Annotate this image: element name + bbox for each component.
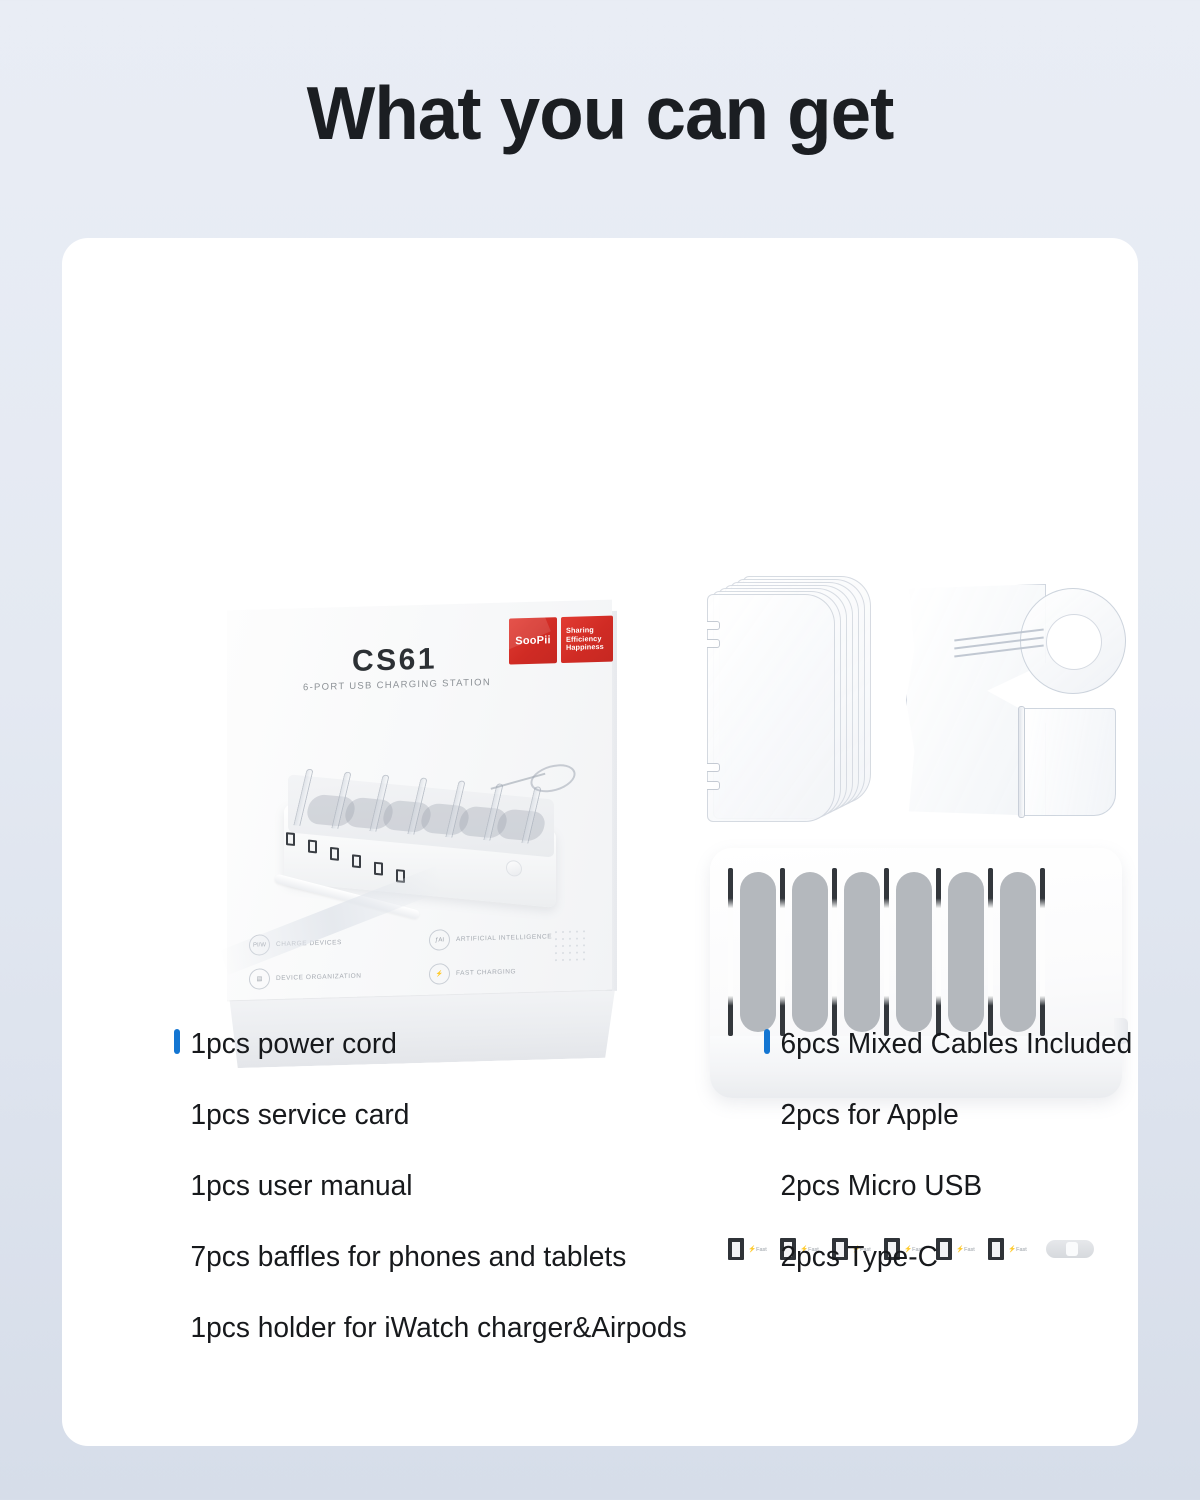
list-item: 2pcs for Apple xyxy=(764,1101,1144,1172)
power-icon: PI/W xyxy=(249,934,270,956)
iwatch-airpods-holder-image xyxy=(898,580,1128,820)
items-right-column: 6pcs Mixed Cables Included 2pcs for Appl… xyxy=(764,1030,1144,1314)
box-feature-item: PI/W CHARGE DEVICES xyxy=(249,930,419,956)
slogan-badge: Sharing Efficiency Happiness xyxy=(561,616,613,663)
list-item: 1pcs holder for iWatch charger&Airpods xyxy=(174,1314,703,1385)
station-divider xyxy=(988,868,993,1036)
baffle-notch xyxy=(707,763,720,772)
box-feature-label: DEVICE ORGANIZATION xyxy=(276,973,361,982)
ai-icon: ƒAI xyxy=(429,929,450,951)
list-item: 1pcs service card xyxy=(174,1101,703,1172)
box-feature-item: ▤ DEVICE ORGANIZATION xyxy=(249,964,419,990)
box-feature-label: FAST CHARGING xyxy=(456,968,516,977)
list-item-label: 1pcs user manual xyxy=(174,1172,413,1201)
slogan-line-3: Happiness xyxy=(566,643,604,653)
list-item-label: 1pcs service card xyxy=(174,1101,409,1130)
baffle-notch xyxy=(707,621,720,630)
airpods-flap xyxy=(1020,708,1116,816)
box-feature-list: PI/W CHARGE DEVICES ƒAI ARTIFICIAL INTEL… xyxy=(249,925,599,1003)
box-art-usb-port xyxy=(286,832,295,846)
station-divider xyxy=(832,868,837,1036)
product-box-image: SooPii Sharing Efficiency Happiness CS61… xyxy=(209,593,629,1088)
box-feature-label: CHARGE DEVICES xyxy=(276,939,342,948)
station-slot-pad xyxy=(740,872,776,1032)
box-art-usb-port xyxy=(352,854,361,868)
box-front-face: SooPii Sharing Efficiency Happiness CS61… xyxy=(227,600,612,1001)
list-item: 2pcs Micro USB xyxy=(764,1172,1144,1243)
list-item-label: 7pcs baffles for phones and tablets xyxy=(174,1243,626,1272)
station-slot-pad xyxy=(1000,872,1036,1032)
iwatch-ring-inner xyxy=(1046,614,1102,670)
fast-charge-icon: ⚡ xyxy=(429,963,450,985)
box-art-usb-port xyxy=(308,840,317,854)
content-card: SooPii Sharing Efficiency Happiness CS61… xyxy=(62,238,1138,1446)
station-slot-pad xyxy=(896,872,932,1032)
list-item-label: 6pcs Mixed Cables Included xyxy=(764,1030,1132,1059)
list-item: 1pcs user manual xyxy=(174,1172,703,1243)
baffle-notch xyxy=(707,639,720,648)
box-art-usb-port xyxy=(396,869,405,883)
baffles-stack-image xyxy=(707,576,877,824)
list-item: 7pcs baffles for phones and tablets xyxy=(174,1243,703,1314)
list-item-label: 1pcs holder for iWatch charger&Airpods xyxy=(174,1314,687,1343)
list-item-label: 2pcs for Apple xyxy=(764,1101,959,1130)
organize-icon: ▤ xyxy=(249,968,270,990)
station-divider xyxy=(780,868,785,1036)
box-feature-row: ▤ DEVICE ORGANIZATION ⚡ FAST CHARGING xyxy=(249,959,599,990)
box-art-usb-port xyxy=(330,847,339,861)
list-item-label: 2pcs Type-C xyxy=(764,1243,938,1272)
page-title: What you can get xyxy=(18,76,1182,151)
list-item-label: 1pcs power cord xyxy=(174,1030,397,1059)
station-divider xyxy=(728,868,733,1036)
box-feature-row: PI/W CHARGE DEVICES ƒAI ARTIFICIAL INTEL… xyxy=(249,925,599,956)
box-feature-label: ARTIFICIAL INTELLIGENCE xyxy=(456,933,552,943)
list-item: 6pcs Mixed Cables Included xyxy=(764,1030,1144,1101)
list-item: 1pcs power cord xyxy=(174,1030,703,1101)
box-art-product-render xyxy=(262,720,592,924)
station-divider xyxy=(936,868,941,1036)
station-divider xyxy=(884,868,889,1036)
station-divider xyxy=(1040,868,1045,1036)
items-left-column: 1pcs power cord 1pcs service card 1pcs u… xyxy=(174,1030,703,1385)
list-item-label: 2pcs Micro USB xyxy=(764,1172,982,1201)
baffle-plate xyxy=(707,594,835,822)
box-dot-pattern xyxy=(555,930,590,966)
list-item: 2pcs Type-C xyxy=(764,1243,1144,1314)
usb-port[interactable] xyxy=(728,1238,744,1260)
station-slot-pad xyxy=(792,872,828,1032)
box-art-usb-port xyxy=(374,862,383,876)
station-slot-pad xyxy=(948,872,984,1032)
station-slot-pad xyxy=(844,872,880,1032)
holder-hinge xyxy=(1018,706,1025,818)
baffle-notch xyxy=(707,781,720,790)
